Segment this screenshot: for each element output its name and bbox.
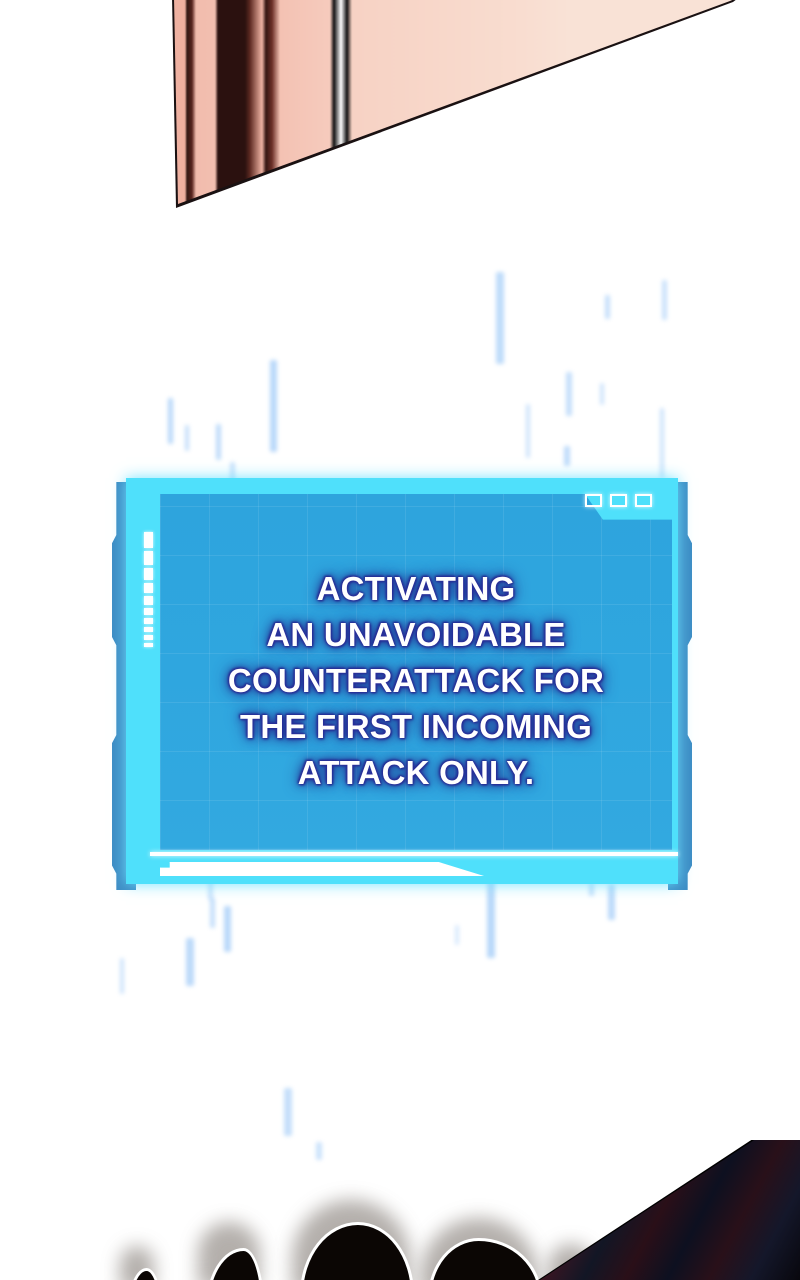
light-particle bbox=[216, 424, 221, 460]
light-particle bbox=[496, 272, 504, 364]
gauge-segment bbox=[144, 532, 153, 548]
light-particle bbox=[564, 446, 570, 466]
window-controls[interactable] bbox=[585, 494, 652, 507]
gauge-segment bbox=[144, 583, 153, 593]
top-art-fill bbox=[0, 0, 800, 226]
control-box-2-icon[interactable] bbox=[610, 494, 627, 507]
light-particle bbox=[186, 938, 194, 986]
light-particle bbox=[600, 383, 604, 405]
light-particle bbox=[566, 372, 572, 416]
gauge-segment bbox=[144, 551, 153, 565]
light-particle bbox=[662, 280, 667, 320]
top-art-panel bbox=[0, 0, 800, 226]
gauge-segment bbox=[144, 568, 153, 580]
window-screen bbox=[160, 494, 672, 850]
gauge-segment bbox=[144, 608, 153, 615]
gauge-segment bbox=[144, 643, 153, 647]
light-particle bbox=[284, 1088, 292, 1136]
light-particle bbox=[210, 898, 215, 928]
light-particle bbox=[605, 295, 610, 319]
light-particle bbox=[185, 425, 189, 451]
control-box-3-icon[interactable] bbox=[635, 494, 652, 507]
gauge-segment bbox=[144, 627, 153, 632]
light-particle bbox=[270, 360, 277, 452]
gauge-segment bbox=[144, 596, 153, 605]
light-particle bbox=[660, 408, 664, 478]
segmented-gauge-icon bbox=[144, 532, 153, 647]
system-window[interactable]: ACTIVATING AN UNAVOIDABLE COUNTERATTACK … bbox=[112, 478, 692, 894]
light-particle bbox=[168, 398, 173, 444]
bottom-corner-art bbox=[540, 1140, 800, 1280]
control-box-1-icon[interactable] bbox=[585, 494, 602, 507]
light-particle bbox=[224, 906, 231, 952]
light-particle bbox=[120, 958, 124, 994]
light-particle bbox=[526, 404, 530, 458]
bottom-art-panel bbox=[0, 1140, 800, 1280]
gauge-segment bbox=[144, 635, 153, 640]
window-footer-rule bbox=[150, 852, 678, 856]
light-particle bbox=[455, 925, 459, 945]
window-frame: ACTIVATING AN UNAVOIDABLE COUNTERATTACK … bbox=[126, 478, 678, 884]
window-footer-slab bbox=[160, 862, 484, 876]
gauge-segment bbox=[144, 618, 153, 624]
webtoon-page: ACTIVATING AN UNAVOIDABLE COUNTERATTACK … bbox=[0, 0, 800, 1280]
